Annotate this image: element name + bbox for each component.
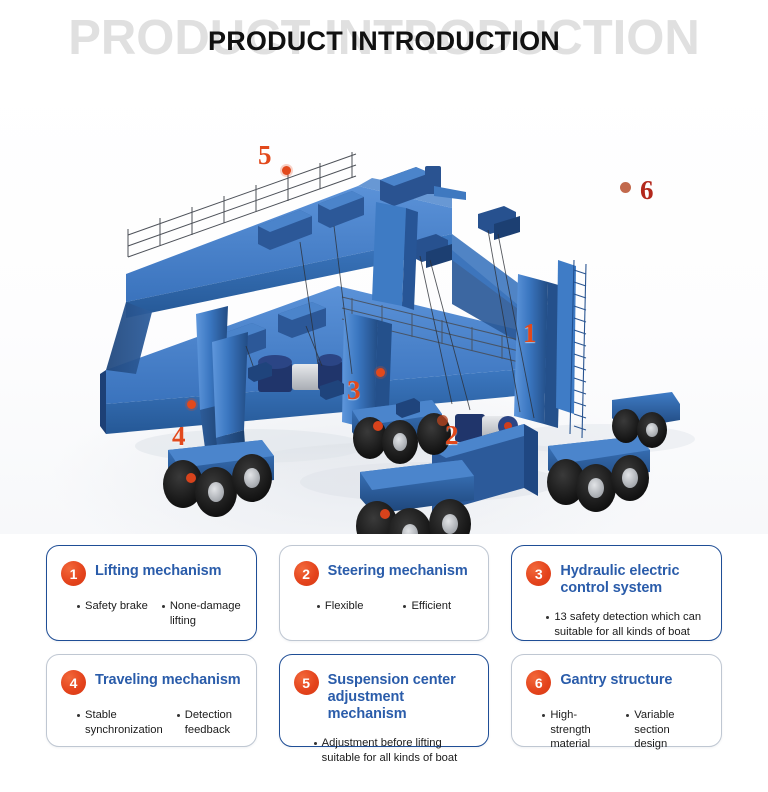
feature-card-hydraulic-electric-control-system[interactable]: 3 Hydraulic electric control system 13 s… xyxy=(511,545,722,641)
card-title: Steering mechanism xyxy=(328,560,468,580)
card-bullets: Safety brake None-damage lifting xyxy=(61,599,242,628)
card-title: Hydraulic electric control system xyxy=(560,560,707,597)
feature-card-suspension-center-adjustment-mechanism[interactable]: 5 Suspension center adjustment mechanism… xyxy=(279,654,490,747)
tire xyxy=(612,409,640,443)
card-bullets: Stable synchronization Detection feedbac… xyxy=(61,708,242,737)
callout-dot-6 xyxy=(620,182,631,193)
feature-card-steering-mechanism[interactable]: 2 Steering mechanism Flexible Efficient xyxy=(279,545,490,641)
card-number-badge: 6 xyxy=(526,670,551,695)
bullet-text: High-strength material xyxy=(550,708,612,752)
bullet-dot-icon xyxy=(542,714,545,717)
bullet-dot-icon xyxy=(317,605,320,608)
list-item: None-damage lifting xyxy=(162,599,241,628)
bullet-dot-icon xyxy=(77,605,80,608)
card-header: 6 Gantry structure xyxy=(526,669,707,695)
list-item: Detection feedback xyxy=(177,708,232,737)
card-bullets: Adjustment before lifting suitable for a… xyxy=(294,736,475,765)
bogie-left xyxy=(163,440,274,517)
card-number-badge: 1 xyxy=(61,561,86,586)
feature-card-lifting-mechanism[interactable]: 1 Lifting mechanism Safety brake None-da… xyxy=(46,545,257,641)
bullet-dot-icon xyxy=(546,616,549,619)
card-bullets: 13 safety detection which can suitable f… xyxy=(526,610,707,639)
bullet-text: Stable synchronization xyxy=(85,708,163,737)
card-header: 2 Steering mechanism xyxy=(294,560,475,586)
bullet-dot-icon xyxy=(626,714,629,717)
page-header: PRODUCT INTRODUCTION PRODUCT INTRODUCTIO… xyxy=(0,0,768,80)
bullet-text: None-damage lifting xyxy=(170,599,241,628)
bogie-right xyxy=(547,436,650,512)
bullet-text: Detection feedback xyxy=(185,708,232,737)
feature-card-traveling-mechanism[interactable]: 4 Traveling mechanism Stable synchroniza… xyxy=(46,654,257,747)
callout-number-3: 3 xyxy=(347,377,361,404)
leg-center-rear xyxy=(372,202,418,310)
card-number-badge: 3 xyxy=(526,561,551,586)
list-item: Flexible xyxy=(317,599,364,614)
callout-dot-2 xyxy=(437,415,448,426)
card-header: 4 Traveling mechanism xyxy=(61,669,242,695)
card-header: 1 Lifting mechanism xyxy=(61,560,242,586)
card-bullets: High-strength material Variable section … xyxy=(526,708,707,752)
card-bullets: Flexible Efficient xyxy=(294,599,475,614)
bullet-text: Adjustment before lifting suitable for a… xyxy=(322,736,458,765)
callout-number-2: 2 xyxy=(445,422,459,449)
list-item: Stable synchronization xyxy=(77,708,163,737)
card-number-badge: 5 xyxy=(294,670,319,695)
bogie-center-front xyxy=(356,460,474,534)
bullet-dot-icon xyxy=(403,605,406,608)
crane-illustration: 5 6 1 3 4 2 xyxy=(0,74,768,534)
list-item: Adjustment before lifting suitable for a… xyxy=(314,736,458,765)
card-header: 3 Hydraulic electric control system xyxy=(526,560,707,597)
list-item: 13 safety detection which can suitable f… xyxy=(546,610,701,639)
callout-number-1: 1 xyxy=(523,320,537,347)
crane-render xyxy=(0,74,768,534)
feature-card-grid: 1 Lifting mechanism Safety brake None-da… xyxy=(46,545,722,747)
bullet-text: Safety brake xyxy=(85,599,148,614)
callout-dot-4 xyxy=(187,400,196,409)
bullet-text: Variable section design xyxy=(634,708,707,752)
callout-number-5: 5 xyxy=(258,142,272,169)
card-title: Lifting mechanism xyxy=(95,560,221,580)
list-item: Variable section design xyxy=(626,708,707,752)
page-title: PRODUCT INTRODUCTION xyxy=(0,26,768,57)
card-number-badge: 4 xyxy=(61,670,86,695)
bullet-dot-icon xyxy=(314,742,317,745)
card-title: Gantry structure xyxy=(560,669,672,689)
bullet-dot-icon xyxy=(177,714,180,717)
product-introduction-page: PRODUCT INTRODUCTION PRODUCT INTRODUCTIO… xyxy=(0,0,768,792)
feature-card-gantry-structure[interactable]: 6 Gantry structure High-strength materia… xyxy=(511,654,722,747)
callout-number-6: 6 xyxy=(640,177,654,204)
callout-dot-5 xyxy=(282,166,291,175)
callout-dot-3 xyxy=(376,368,385,377)
card-number-badge: 2 xyxy=(294,561,319,586)
card-title: Suspension center adjustment mechanism xyxy=(328,669,475,723)
bullet-text: Efficient xyxy=(411,599,451,614)
bullet-text: 13 safety detection which can suitable f… xyxy=(554,610,701,639)
callout-number-4: 4 xyxy=(172,423,186,450)
bullet-dot-icon xyxy=(77,714,80,717)
bullet-dot-icon xyxy=(162,605,165,608)
list-item: Safety brake xyxy=(77,599,148,628)
card-header: 5 Suspension center adjustment mechanism xyxy=(294,669,475,723)
list-item: Efficient xyxy=(403,599,451,614)
bullet-text: Flexible xyxy=(325,599,364,614)
list-item: High-strength material xyxy=(542,708,612,752)
card-title: Traveling mechanism xyxy=(95,669,241,689)
